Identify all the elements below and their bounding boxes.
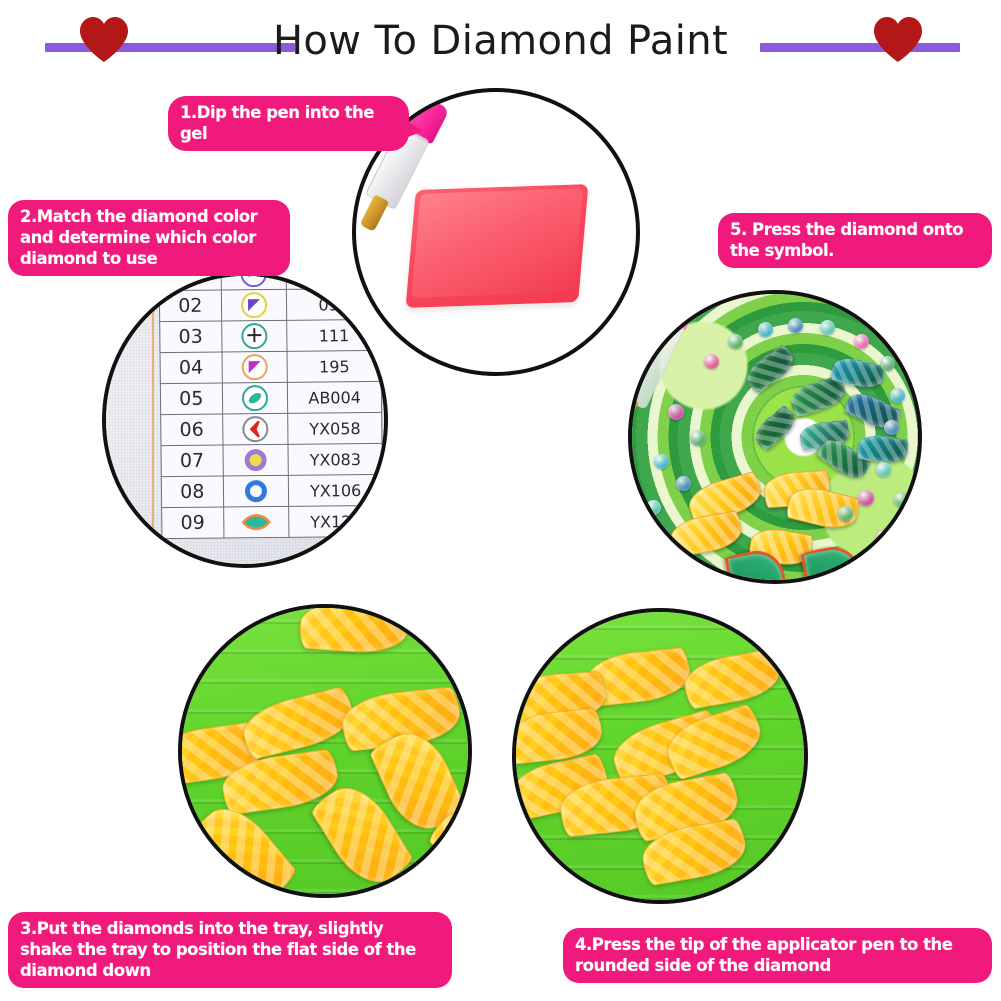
pen-tip xyxy=(359,194,389,232)
rhinestone xyxy=(704,354,719,369)
table-row: 03111 xyxy=(160,319,381,352)
rhinestone xyxy=(884,420,899,435)
rhinestone xyxy=(838,506,853,521)
ring-icon xyxy=(242,477,270,505)
chart-cell-symbol xyxy=(222,382,288,414)
chart-cell-code: 111 xyxy=(287,319,381,351)
rhinestone xyxy=(728,334,743,349)
chart-cell-no: 09 xyxy=(162,507,224,539)
rhinestone xyxy=(880,356,895,371)
chart-cell-symbol xyxy=(223,444,289,476)
header: How To Diamond Paint xyxy=(0,0,1001,90)
color-chart-table: 02802093031110419505AB00406YX05807YX0830… xyxy=(159,272,384,539)
step-5-label: 5. Press the diamond onto the symbol. xyxy=(718,213,992,268)
rhinestone xyxy=(654,454,669,469)
rhinestone xyxy=(890,388,905,403)
chart-cell-no: 08 xyxy=(161,476,223,508)
step-3-label: 3.Put the diamonds into the tray, slight… xyxy=(8,912,452,988)
rhinestone xyxy=(758,322,773,337)
dot-in-ring-icon xyxy=(242,446,270,474)
chart-cell-code: 093 xyxy=(287,288,381,320)
rhinestone xyxy=(668,404,684,420)
step-4-label: 4.Press the tip of the applicator pen to… xyxy=(563,928,992,983)
chart-cell-code: YX106 xyxy=(289,474,383,506)
chart-cell-no: 05 xyxy=(160,383,222,415)
page-title: How To Diamond Paint xyxy=(0,16,1001,66)
chart-cell-code: YX083 xyxy=(288,443,382,475)
rhinestone xyxy=(854,334,869,349)
chart-cell-symbol xyxy=(222,413,288,445)
rhinestone xyxy=(858,490,874,506)
rhinestone xyxy=(722,582,737,584)
chart-cell-no: 04 xyxy=(160,352,222,384)
rhinestone xyxy=(820,320,835,335)
chart-cell-code: YX125 xyxy=(289,505,383,537)
table-row: 08YX106 xyxy=(161,474,382,507)
rhinestone xyxy=(676,476,691,491)
chart-cell-code: YX058 xyxy=(288,412,382,444)
chart-cell-symbol xyxy=(221,320,287,352)
chart-cell-symbol xyxy=(221,289,287,321)
rhinestone xyxy=(876,530,891,545)
table-row: 02093 xyxy=(159,288,380,321)
oval-icon xyxy=(241,384,269,412)
rhinestone xyxy=(876,462,891,477)
step-5-photo xyxy=(628,290,922,584)
canvas-margin-line xyxy=(152,276,154,564)
rhinestone xyxy=(788,318,803,333)
step-3-photo xyxy=(178,604,472,898)
chevron-left-icon xyxy=(241,415,269,443)
table-row: 04195 xyxy=(160,350,381,383)
chart-cell-no: 03 xyxy=(160,321,222,353)
chart-cell-no: 06 xyxy=(161,414,223,446)
table-row: 07YX083 xyxy=(161,443,382,476)
rhinestone xyxy=(646,500,661,515)
table-row: 06YX058 xyxy=(161,412,382,445)
table-row: 09YX125 xyxy=(162,505,383,538)
infographic-root: How To Diamond Paint 1.Dip the pen into … xyxy=(0,0,1001,1001)
step-1-label: 1.Dip the pen into the gel xyxy=(168,96,409,151)
table-row: 05AB004 xyxy=(160,381,381,414)
chart-cell-symbol xyxy=(223,506,289,538)
rhinestone xyxy=(690,430,706,446)
triangle-icon xyxy=(240,291,268,319)
step-2-photo: 02802093031110419505AB00406YX05807YX0830… xyxy=(102,272,388,568)
step-2-label: 2.Match the diamond color and determine … xyxy=(8,200,290,276)
chart-cell-symbol xyxy=(223,475,289,507)
leaf-icon xyxy=(241,508,271,536)
chart-cell-no: 07 xyxy=(161,445,223,477)
chart-cell-code: 195 xyxy=(287,350,381,382)
chart-cell-no: 02 xyxy=(159,290,221,322)
plus-icon xyxy=(240,322,268,350)
step-4-photo xyxy=(512,608,808,904)
chart-cell-symbol xyxy=(222,351,288,383)
triangle-icon xyxy=(241,353,269,381)
rhinestone xyxy=(894,492,909,507)
gel-pad xyxy=(406,184,589,308)
chart-cell-code: AB004 xyxy=(288,381,382,413)
